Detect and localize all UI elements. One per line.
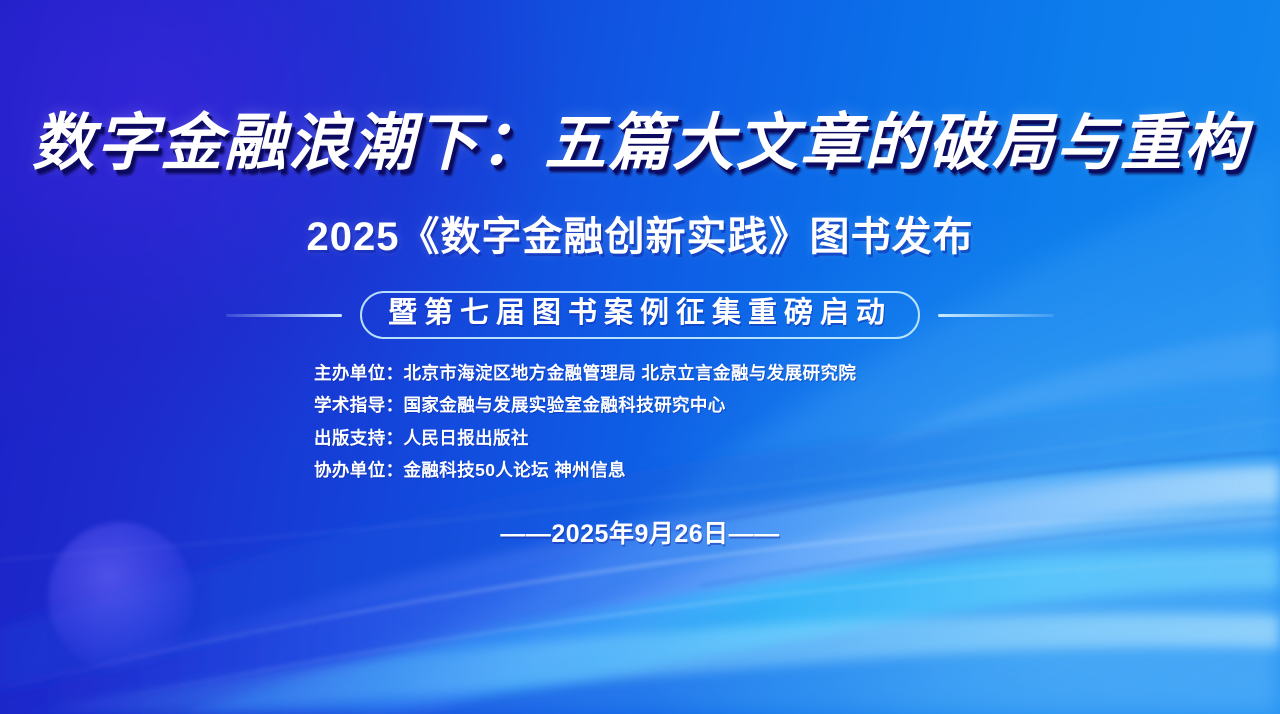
subtitle: 2025《数字金融创新实践》图书发布 xyxy=(0,213,1280,261)
divider-line-left xyxy=(226,314,342,317)
pill-headline-row: 暨第七届图书案例征集重磅启动 xyxy=(0,292,1280,338)
event-date-row: ——2025年9月26日—— xyxy=(0,514,1280,550)
organizer-line: 主办单位：北京市海淀区地方金融管理局 北京立言金融与发展研究院 xyxy=(314,360,856,386)
organizer-line: 学术指导：国家金融与发展实验室金融科技研究中心 xyxy=(314,392,856,418)
page-title: 数字金融浪潮下：五篇大文章的破局与重构 xyxy=(0,108,1280,177)
event-poster: 数字金融浪潮下：五篇大文章的破局与重构 2025《数字金融创新实践》图书发布 暨… xyxy=(0,0,1280,714)
event-date: ——2025年9月26日—— xyxy=(500,514,779,550)
pill-headline: 暨第七届图书案例征集重磅启动 xyxy=(360,291,920,339)
organizers-block: 主办单位：北京市海淀区地方金融管理局 北京立言金融与发展研究院 学术指导：国家金… xyxy=(314,360,856,483)
organizer-line: 出版支持：人民日报出版社 xyxy=(314,425,856,451)
organizer-line: 协办单位：金融科技50人论坛 神州信息 xyxy=(314,457,856,483)
divider-line-right xyxy=(938,314,1054,317)
